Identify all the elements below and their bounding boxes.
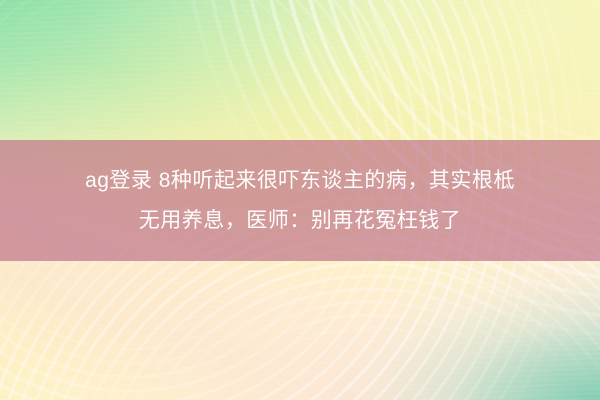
caption-line-2: 无用养息，医师：别再花冤枉钱了 [139,201,462,241]
banner-image: ag登录 8种听起来很吓东谈主的病，其实根柢 无用养息，医师：别再花冤枉钱了 [0,0,600,400]
caption-band: ag登录 8种听起来很吓东谈主的病，其实根柢 无用养息，医师：别再花冤枉钱了 [0,140,600,261]
caption-line-1: ag登录 8种听起来很吓东谈主的病，其实根柢 [85,161,515,201]
